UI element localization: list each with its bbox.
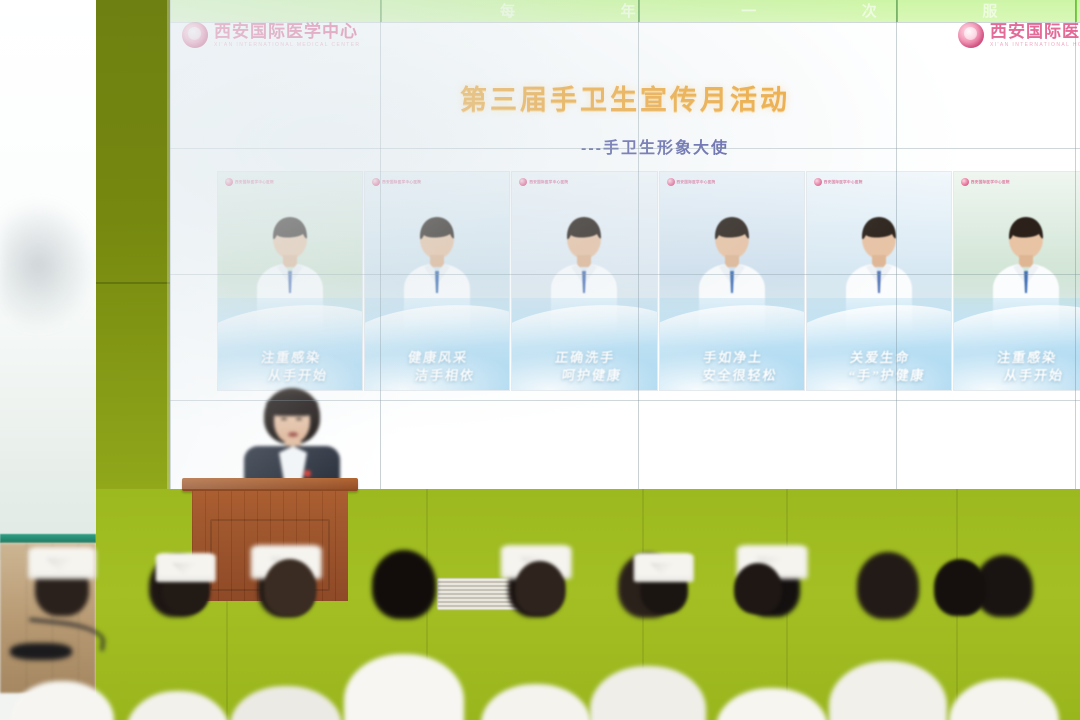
poster-slogan-line2: 从手开始 bbox=[954, 366, 1080, 384]
poster-slogan: 健康风采 洁手相依 bbox=[365, 349, 509, 384]
banner-char-4: 服 bbox=[982, 0, 999, 21]
hospital-name-en: XI'AN INTERNATIONAL MEDICAL CENTER bbox=[214, 43, 360, 48]
poster-slogan-line1: 关爱生命 bbox=[807, 349, 951, 367]
person-head bbox=[515, 561, 565, 615]
audience-person bbox=[136, 552, 236, 720]
audience-person bbox=[710, 552, 806, 720]
poster-logo-text: 西安国际医学中心医院 bbox=[235, 180, 274, 185]
poster-card: 西安国际医学中心医院 健康风采 洁手相依 bbox=[365, 172, 509, 390]
hospital-name-cn: 西安国际医学中心 bbox=[214, 23, 360, 40]
poster-logo: 西安国际医学中心医院 bbox=[667, 178, 716, 186]
person-shoulders bbox=[344, 654, 464, 720]
poster-slogan-line2: 从手开始 bbox=[218, 366, 362, 384]
column-seam bbox=[96, 282, 170, 284]
poster-strip: 西安国际医学中心医院 注重感染 从手开始 西安国际医学中心医院 bbox=[218, 172, 1080, 390]
audience-person bbox=[490, 550, 590, 720]
banner-char-1: 年 bbox=[621, 0, 638, 21]
lotus-mark-icon bbox=[225, 178, 233, 186]
nurse-cap-icon bbox=[28, 547, 96, 579]
banner-char-3: 次 bbox=[862, 0, 879, 21]
poster-slogan-line1: 健康风采 bbox=[365, 349, 509, 367]
poster-slogan: 注重感染 从手开始 bbox=[954, 349, 1080, 384]
lotus-mark-icon bbox=[182, 22, 208, 48]
hospital-name-en: XI'AN INTERNATIONAL HOSPITAL bbox=[990, 43, 1080, 48]
poster-logo: 西安国际医学中心医院 bbox=[225, 178, 274, 186]
hospital-name-cn: 西安国际医学中心 bbox=[990, 23, 1080, 40]
hospital-logo-right: 西安国际医学中心 XI'AN INTERNATIONAL HOSPITAL bbox=[958, 22, 1080, 48]
banner-char-2: 一 bbox=[741, 0, 758, 21]
audience-person bbox=[615, 552, 713, 720]
poster-slogan: 关爱生命 “手”护健康 bbox=[807, 349, 951, 384]
person-head bbox=[934, 559, 986, 615]
lotus-mark-icon bbox=[667, 178, 675, 186]
poster-slogan: 正确洗手 呵护健康 bbox=[512, 349, 656, 384]
poster-logo-text: 西安国际医学中心医院 bbox=[824, 180, 863, 185]
poster-logo-text: 西安国际医学中心医院 bbox=[529, 180, 568, 185]
poster-logo-text: 西安国际医学中心医院 bbox=[971, 180, 1010, 185]
poster-slogan-line2: 呵护健康 bbox=[512, 366, 656, 384]
nurse-cap-icon bbox=[634, 553, 694, 582]
person-shoulders bbox=[10, 681, 114, 720]
poster-slogan: 注重感染 从手开始 bbox=[218, 349, 362, 384]
lotus-mark-icon bbox=[372, 178, 380, 186]
poster-card: 西安国际医学中心医院 注重感染 从手开始 bbox=[218, 172, 362, 390]
nurse-cap-icon bbox=[156, 553, 216, 582]
poster-card: 西安国际医学中心医院 手如净土 安全很轻松 bbox=[660, 172, 804, 390]
poster-card: 西安国际医学中心医院 正确洗手 呵护健康 bbox=[512, 172, 656, 390]
audience-person bbox=[236, 548, 344, 720]
poster-slogan-line2: 安全很轻松 bbox=[660, 366, 804, 384]
audience-person bbox=[344, 536, 464, 720]
lotus-mark-icon bbox=[519, 178, 527, 186]
poster-slogan: 手如净土 安全很轻松 bbox=[660, 349, 804, 384]
audience-person bbox=[10, 546, 114, 720]
slide-subtitle: ---手卫生形象大使 bbox=[170, 134, 1080, 158]
poster-logo: 西安国际医学中心医院 bbox=[519, 178, 568, 186]
slide-banner-watermark: 每 年 一 次 服 务 bbox=[500, 0, 1080, 21]
poster-logo-text: 西安国际医学中心医院 bbox=[382, 180, 421, 185]
audience-person bbox=[908, 548, 1012, 720]
banner-char-0: 每 bbox=[500, 0, 517, 21]
poster-card: 西安国际医学中心医院 注重感染 从手开始 bbox=[954, 172, 1080, 390]
lotus-mark-icon bbox=[814, 178, 822, 186]
poster-logo: 西安国际医学中心医院 bbox=[814, 178, 863, 186]
poster-slogan-line1: 注重感染 bbox=[954, 349, 1080, 367]
poster-card: 西安国际医学中心医院 关爱生命 “手”护健康 bbox=[807, 172, 951, 390]
lotus-mark-icon bbox=[958, 22, 984, 48]
poster-slogan-line2: “手”护健康 bbox=[807, 366, 951, 384]
audience-seating bbox=[0, 460, 1080, 720]
window-outside-blur bbox=[0, 200, 96, 330]
poster-logo: 西安国际医学中心医院 bbox=[961, 178, 1010, 186]
conference-photo: 每 年 一 次 服 务 西安国际医学中心 XI'AN INTERNATIONAL… bbox=[0, 0, 1080, 720]
slide-title: 第三届手卫生宣传月活动 bbox=[170, 78, 1080, 117]
poster-logo-text: 西安国际医学中心医院 bbox=[677, 180, 716, 185]
poster-slogan-line1: 手如净土 bbox=[660, 349, 804, 367]
lotus-mark-icon bbox=[961, 178, 969, 186]
poster-slogan-line2: 洁手相依 bbox=[365, 366, 509, 384]
person-head bbox=[734, 563, 782, 615]
hospital-logo-left: 西安国际医学中心 XI'AN INTERNATIONAL MEDICAL CEN… bbox=[182, 22, 360, 48]
person-head bbox=[264, 559, 316, 615]
poster-slogan-line1: 注重感染 bbox=[218, 349, 362, 367]
poster-slogan-line1: 正确洗手 bbox=[512, 349, 656, 367]
person-head bbox=[372, 550, 436, 619]
